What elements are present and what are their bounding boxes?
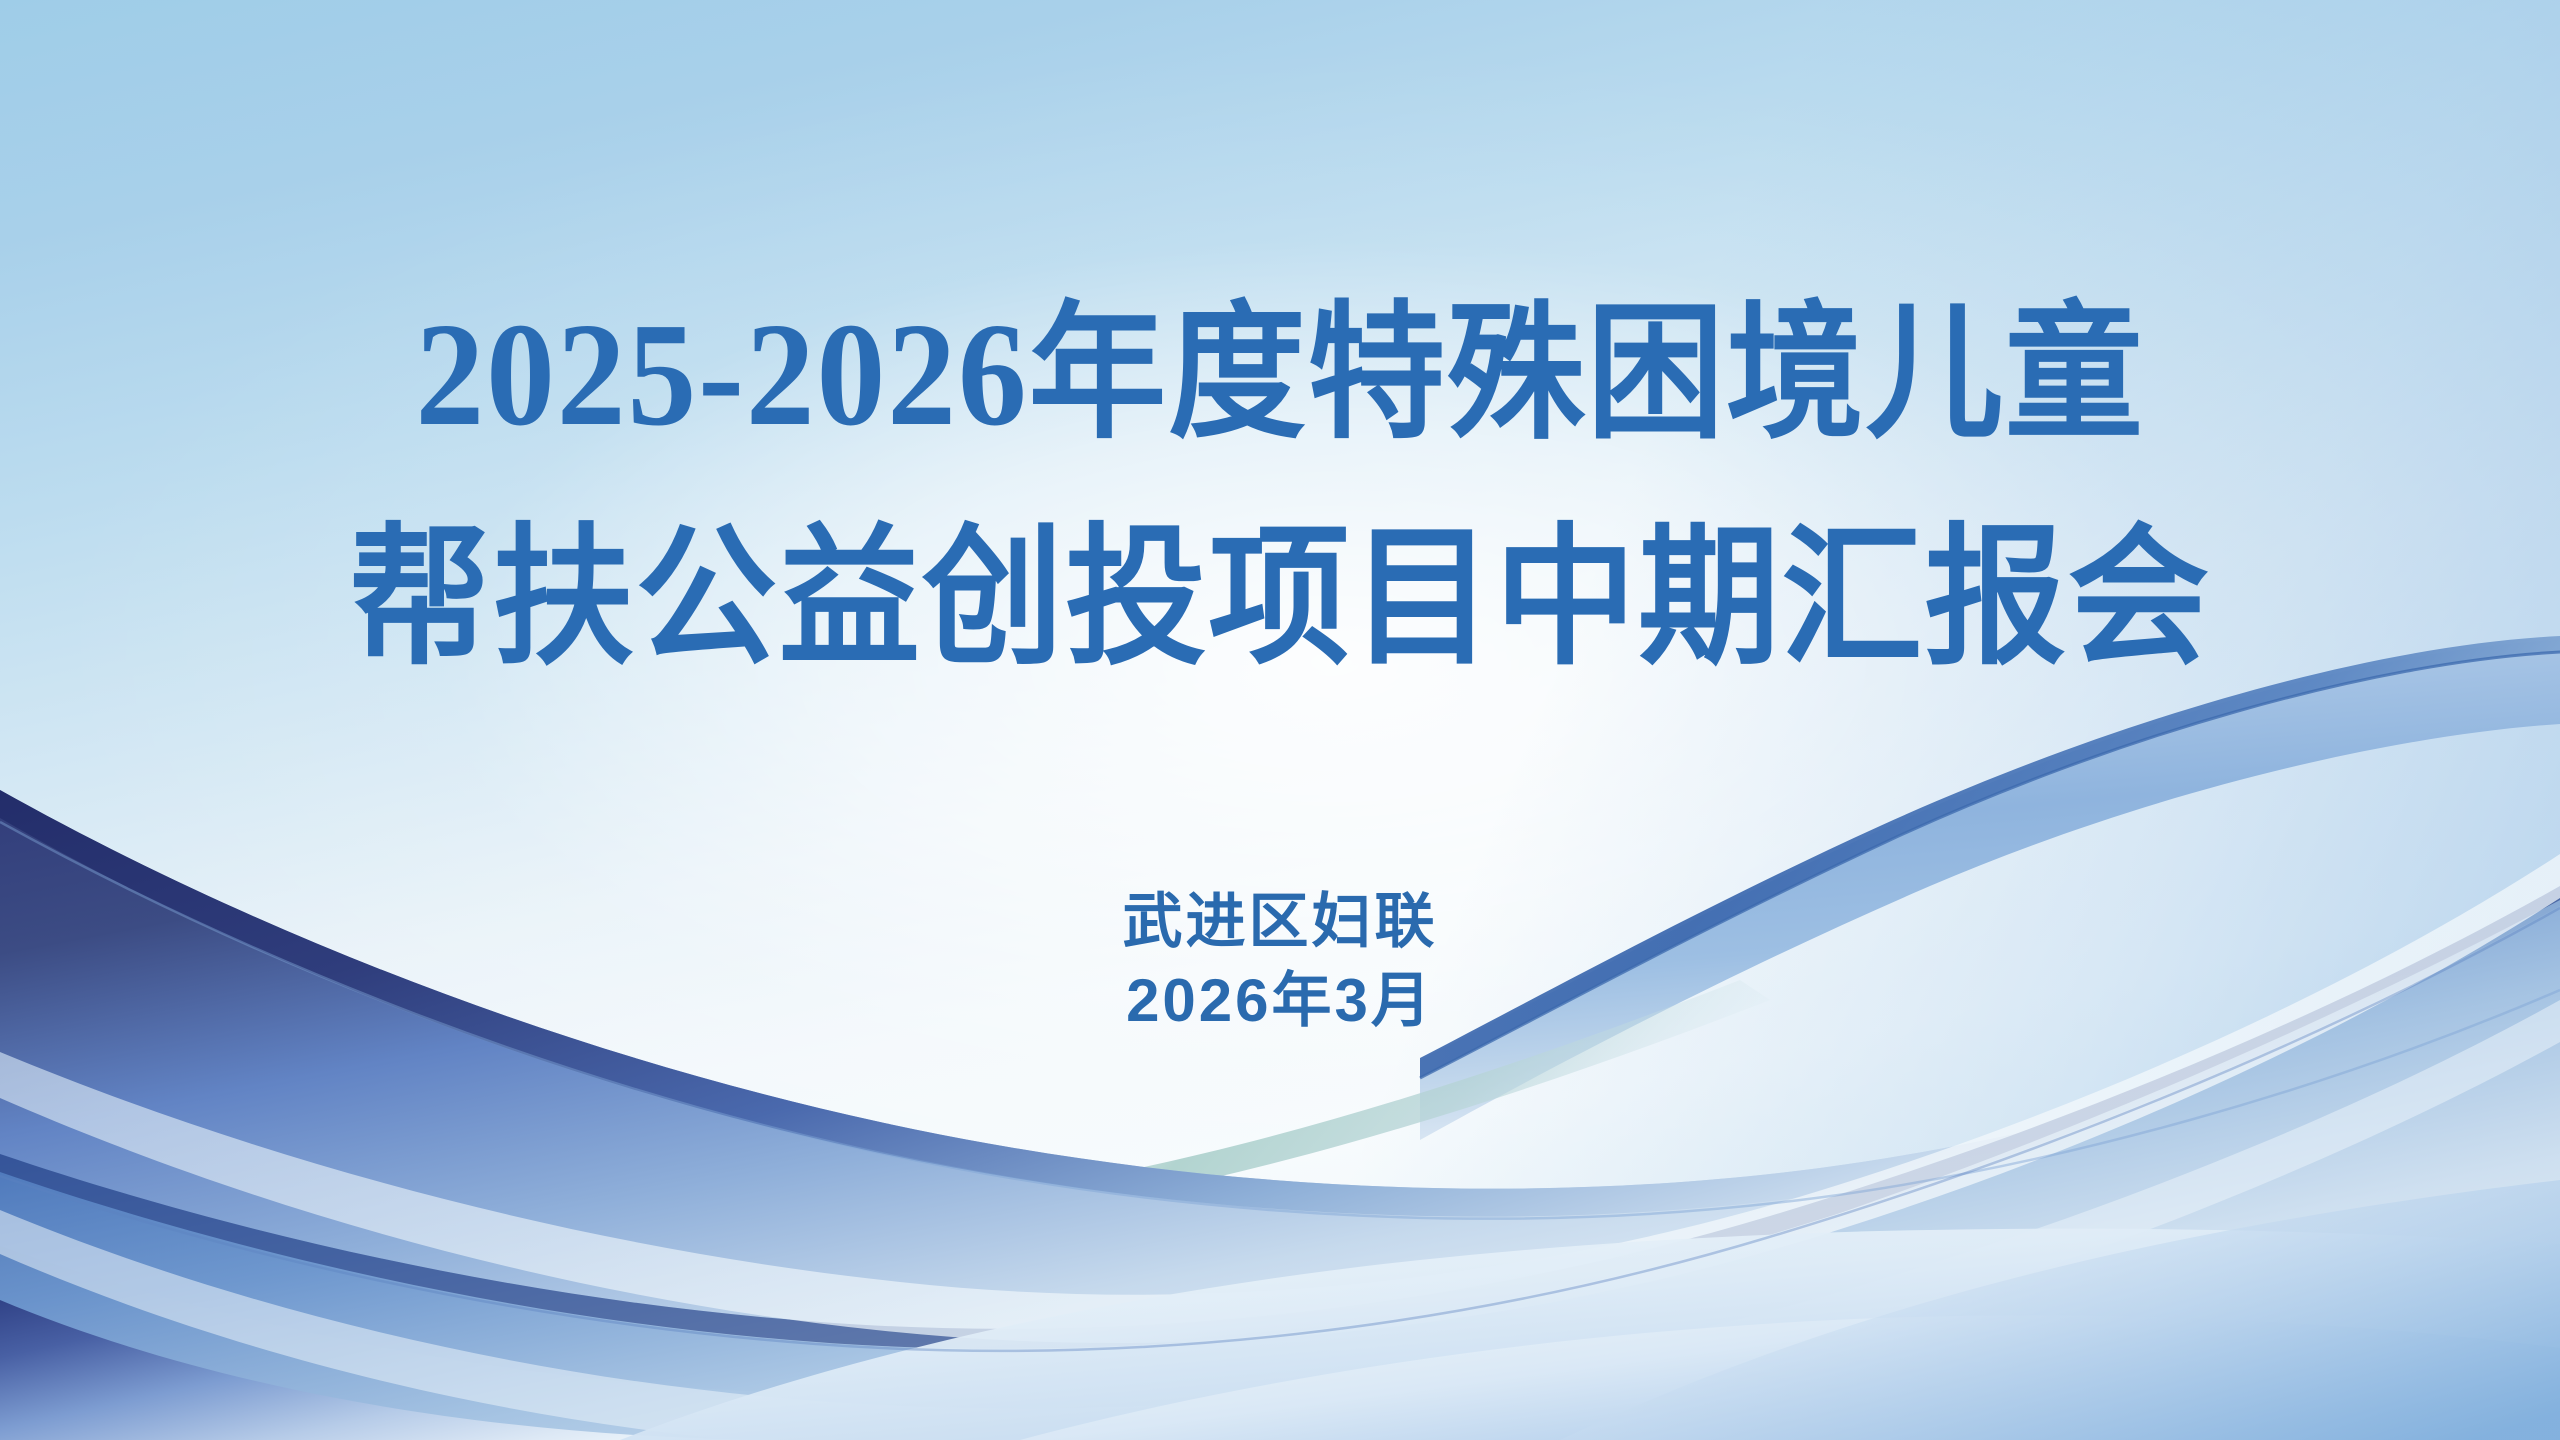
title-line-2: 帮扶公益创投项目中期汇报会 (90, 489, 2471, 709)
slide-canvas: 2025-2026年度特殊困境儿童 帮扶公益创投项目中期汇报会 武进区妇联 20… (0, 0, 2560, 1440)
title-line-1: 2025-2026年度特殊困境儿童 (90, 268, 2471, 483)
main-title: 2025-2026年度特殊困境儿童 帮扶公益创投项目中期汇报会 (0, 268, 2560, 709)
slide-content: 2025-2026年度特殊困境儿童 帮扶公益创投项目中期汇报会 武进区妇联 20… (0, 0, 2560, 1440)
organization-name: 武进区妇联 (0, 882, 2560, 961)
subtitle-block: 武进区妇联 2026年3月 (0, 882, 2560, 1040)
event-date: 2026年3月 (0, 961, 2560, 1040)
